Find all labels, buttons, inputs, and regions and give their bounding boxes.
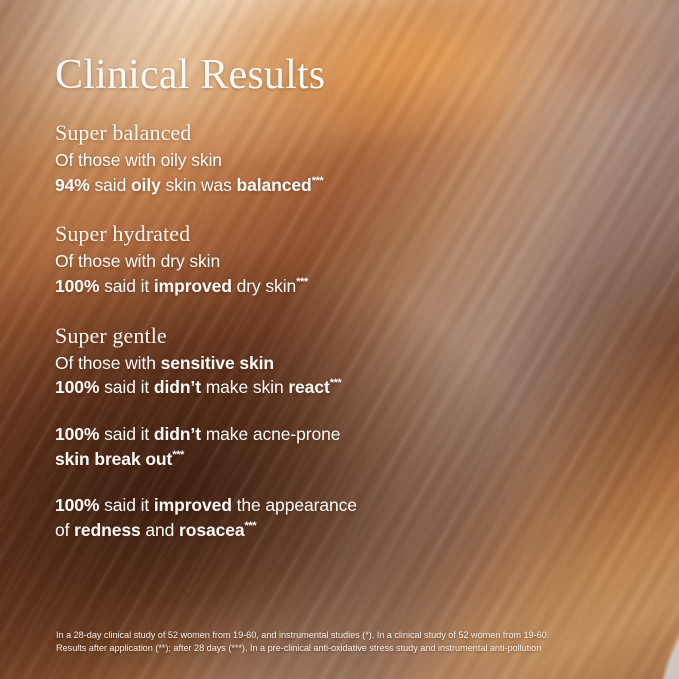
result-block-heading: Super hydrated bbox=[55, 219, 615, 248]
plain-text: Of those with bbox=[55, 353, 161, 373]
result-block: Super hydratedOf those with dry skin100%… bbox=[55, 219, 615, 298]
plain-text: Of those with oily skin bbox=[55, 150, 222, 170]
emphasis-text: react bbox=[288, 377, 329, 397]
plain-text: skin was bbox=[161, 175, 237, 195]
plain-text: said bbox=[90, 175, 131, 195]
plain-text: said it bbox=[99, 377, 154, 397]
emphasis-text: didn’t bbox=[154, 424, 201, 444]
footnote-marker: *** bbox=[172, 449, 184, 461]
plain-text: dry skin bbox=[232, 276, 296, 296]
plain-text: make skin bbox=[201, 377, 288, 397]
emphasis-text: rosacea bbox=[179, 520, 244, 540]
emphasis-text: improved bbox=[154, 276, 232, 296]
result-line: Of those with sensitive skin bbox=[55, 351, 615, 376]
result-line: 100% said it didn’t make acne-prone bbox=[55, 422, 615, 447]
emphasis-text: 94% bbox=[55, 175, 90, 195]
result-block: 100% said it improved the appearanceof r… bbox=[55, 493, 615, 542]
footnote-marker: *** bbox=[312, 175, 324, 187]
plain-text: and bbox=[141, 520, 179, 540]
emphasis-text: balanced bbox=[237, 175, 312, 195]
result-line: Of those with oily skin bbox=[55, 148, 615, 173]
result-line: of redness and rosacea*** bbox=[55, 518, 615, 543]
result-line: 100% said it didn’t make skin react*** bbox=[55, 375, 615, 400]
plain-text: of bbox=[55, 520, 74, 540]
emphasis-text: 100% bbox=[55, 276, 99, 296]
result-block: Super gentleOf those with sensitive skin… bbox=[55, 321, 615, 400]
footnote-line-2: Results after application (**); after 28… bbox=[56, 642, 636, 655]
results-block-list: Super balancedOf those with oily skin94%… bbox=[55, 118, 615, 565]
emphasis-text: oily bbox=[131, 175, 161, 195]
result-block: Super balancedOf those with oily skin94%… bbox=[55, 118, 615, 197]
emphasis-text: skin break out bbox=[55, 449, 172, 469]
emphasis-text: 100% bbox=[55, 377, 99, 397]
result-block-heading: Super gentle bbox=[55, 321, 615, 350]
emphasis-text: 100% bbox=[55, 495, 99, 515]
footnote-marker: *** bbox=[245, 520, 257, 532]
result-line: Of those with dry skin bbox=[55, 249, 615, 274]
plain-text: make acne-prone bbox=[201, 424, 340, 444]
footnote-marker: *** bbox=[296, 276, 308, 288]
plain-text: said it bbox=[99, 276, 154, 296]
footnote-marker: *** bbox=[330, 378, 342, 390]
result-line: 94% said oily skin was balanced*** bbox=[55, 173, 615, 198]
result-line: 100% said it improved the appearance bbox=[55, 493, 615, 518]
result-block-heading: Super balanced bbox=[55, 118, 615, 147]
footnote-line-1: In a 28-day clinical study of 52 women f… bbox=[56, 629, 636, 642]
emphasis-text: didn’t bbox=[154, 377, 201, 397]
plain-text: the appearance bbox=[232, 495, 357, 515]
clinical-results-card: Clinical Results Super balancedOf those … bbox=[0, 0, 679, 679]
result-line: skin break out*** bbox=[55, 447, 615, 472]
footnote: In a 28-day clinical study of 52 women f… bbox=[56, 629, 636, 655]
result-line: 100% said it improved dry skin*** bbox=[55, 274, 615, 299]
page-title: Clinical Results bbox=[55, 53, 325, 97]
result-block: 100% said it didn’t make acne-proneskin … bbox=[55, 422, 615, 471]
plain-text: said it bbox=[99, 424, 154, 444]
plain-text: Of those with dry skin bbox=[55, 251, 220, 271]
emphasis-text: improved bbox=[154, 495, 232, 515]
emphasis-text: redness bbox=[74, 520, 140, 540]
plain-text: said it bbox=[99, 495, 154, 515]
content-area: Clinical Results Super balancedOf those … bbox=[0, 0, 679, 679]
emphasis-text: 100% bbox=[55, 424, 99, 444]
emphasis-text: sensitive skin bbox=[161, 353, 274, 373]
